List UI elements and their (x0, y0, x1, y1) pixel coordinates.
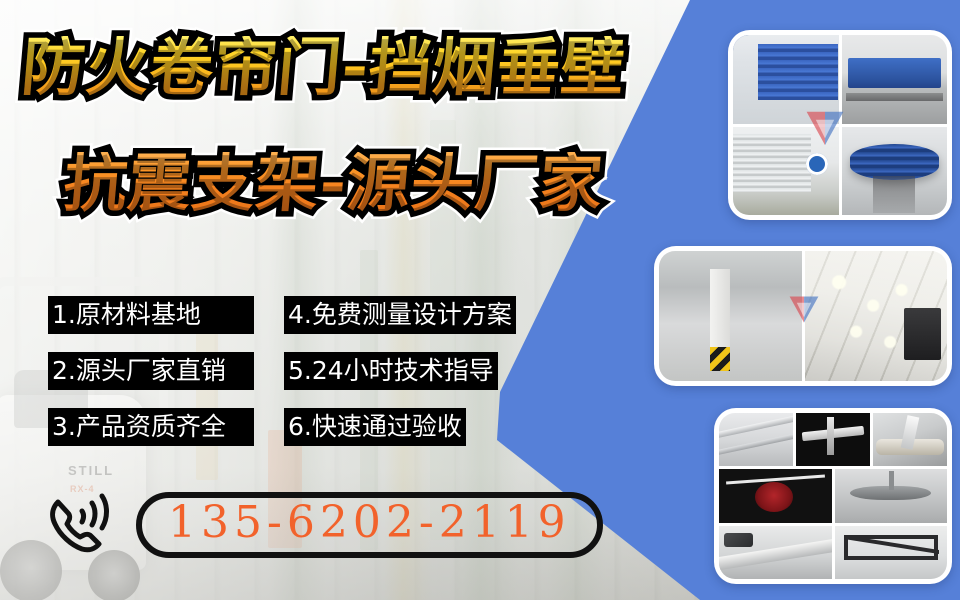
photo-grid (659, 251, 947, 381)
feature-item-4: 4.免费测量设计方案 (284, 296, 516, 334)
feature-item-3: 3.产品资质齐全 (48, 408, 254, 446)
phone-number-text: 135-6202-2119 (168, 500, 571, 547)
photo-large-ceiling-fan (835, 469, 948, 522)
photo-dark-bracket-closeup (796, 413, 870, 466)
feature-item-2: 2.源头厂家直销 (48, 352, 254, 390)
photo-blue-rolling-shutter-door (733, 35, 839, 124)
photo-panel-smoke-barrier-sites[interactable] (654, 246, 952, 386)
feature-item-5: 5.24小时技术指导 (284, 352, 498, 390)
contact-phone-block[interactable]: 135-6202-2119 (44, 492, 603, 558)
photo-panel-seismic-brackets[interactable] (714, 408, 952, 584)
photo-parking-garage-interior (659, 251, 802, 381)
feature-item-6: 6.快速通过验收 (284, 408, 466, 446)
headline-primary-text: 防火卷帘门-挡烟垂壁 (19, 36, 628, 99)
feature-row: 1.原材料基地 4.免费测量设计方案 (48, 296, 568, 336)
photo-pipe-hanger-ceiling (719, 413, 793, 466)
photo-cable-tray-bracket (719, 526, 832, 579)
feature-list: 1.原材料基地 4.免费测量设计方案 2.源头厂家直销 5.24小时技术指导 3… (48, 296, 568, 464)
headline-primary: 防火卷帘门-挡烟垂壁 防火卷帘门-挡烟垂壁 防火卷帘门-挡烟垂壁 (19, 36, 628, 99)
photo-blue-shutter-coil (842, 127, 948, 216)
advertisement-poster: STILL RX-4 防火卷帘门-挡烟垂壁 防火卷帘门-挡烟垂壁 防火卷帘门-挡… (0, 0, 960, 600)
feature-item-1: 1.原材料基地 (48, 296, 254, 334)
headline-secondary-text: 抗震支架-源头厂家 (61, 152, 606, 215)
photo-grid (719, 413, 947, 579)
photo-steel-frame-structure (835, 526, 948, 579)
photo-red-fan-dark-ceiling (719, 469, 832, 522)
photo-panel-fire-shutter-doors[interactable] (728, 30, 952, 220)
headline-secondary: 抗震支架-源头厂家 抗震支架-源头厂家 抗震支架-源头厂家 (61, 152, 606, 215)
phone-ringing-icon (44, 492, 114, 558)
photo-shutter-production-machine (842, 35, 948, 124)
feature-row: 3.产品资质齐全 6.快速通过验收 (48, 408, 568, 448)
phone-number-pill[interactable]: 135-6202-2119 (136, 492, 603, 558)
photo-grid (733, 35, 947, 215)
photo-grey-rolling-shutter-corridor (733, 127, 839, 216)
photo-ceiling-with-downlights (805, 251, 948, 381)
photo-pipe-clamp-assembly (873, 413, 947, 466)
feature-row: 2.源头厂家直销 5.24小时技术指导 (48, 352, 568, 392)
